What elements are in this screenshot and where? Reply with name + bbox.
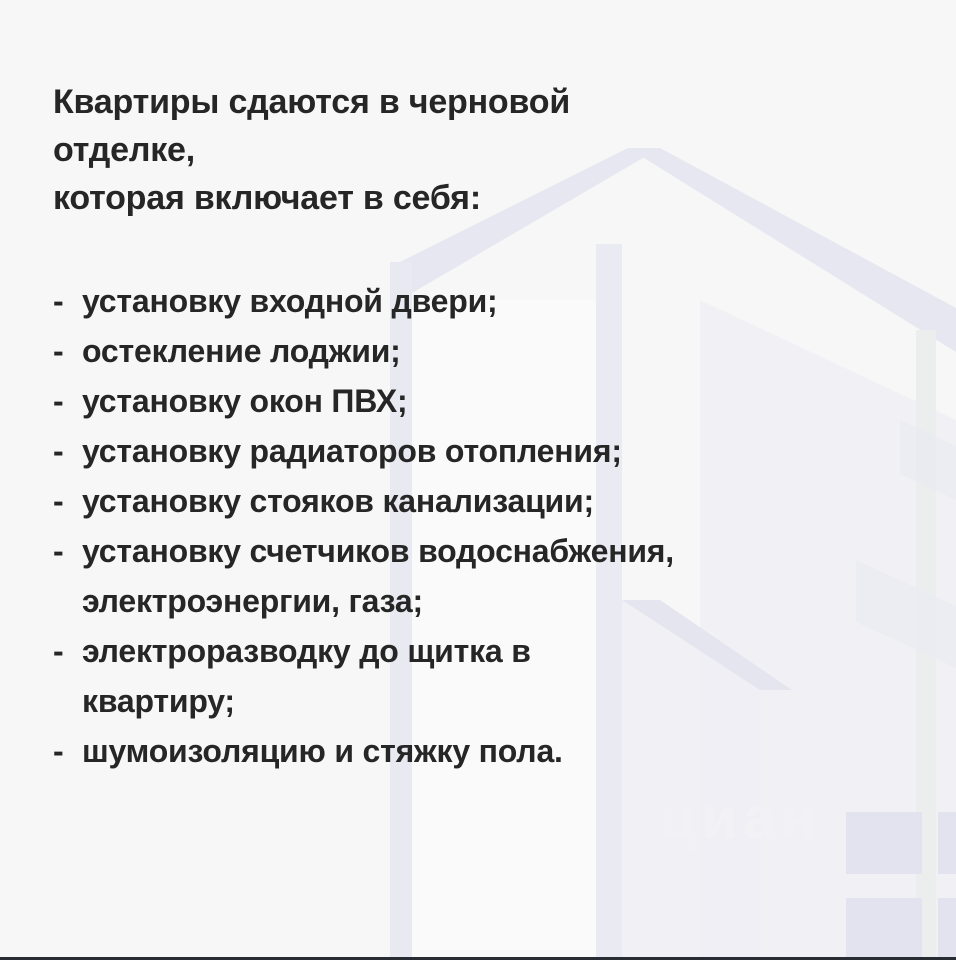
list-item-text: шумоизоляцию и стяжку пола. [82, 733, 563, 769]
window-grid [846, 812, 956, 958]
list-bullet-dash: - [53, 526, 63, 576]
finishing-list: -установку входной двери;-остекление лод… [53, 276, 953, 776]
heading-line-2: отделке, [53, 126, 953, 174]
list-bullet-dash: - [53, 726, 63, 776]
list-bullet-dash: - [53, 426, 63, 476]
list-item-text: установку входной двери; [82, 283, 498, 319]
list-item: -шумоизоляцию и стяжку пола. [53, 726, 953, 776]
list-item-text: установку окон ПВХ; [82, 383, 408, 419]
list-item: -электроразводку до щитка вквартиру; [53, 626, 953, 726]
list-item-continuation: электроэнергии, газа; [82, 576, 953, 626]
list-item: -остекление лоджии; [53, 326, 953, 376]
list-bullet-dash: - [53, 626, 63, 676]
brand-watermark-text: циан [660, 786, 823, 851]
list-item-text: остекление лоджии; [82, 333, 401, 369]
list-bullet-dash: - [53, 476, 63, 526]
list-item: -установку стояков канализации; [53, 476, 953, 526]
list-item-continuation: квартиру; [82, 676, 953, 726]
card-content: Квартиры сдаются в черновой отделке, кот… [53, 78, 953, 776]
list-bullet-dash: - [53, 376, 63, 426]
list-item: -установку радиаторов отопления; [53, 426, 953, 476]
list-item: -установку счетчиков водоснабжения,элект… [53, 526, 953, 626]
list-item: -установку окон ПВХ; [53, 376, 953, 426]
listing-info-card: циан Квартиры сдаются в черновой отделке… [0, 0, 956, 960]
list-item-text: электроразводку до щитка в [82, 633, 531, 669]
list-item-text: установку стояков канализации; [82, 483, 594, 519]
list-bullet-dash: - [53, 276, 63, 326]
heading-list-spacer [53, 222, 953, 276]
list-item-text: установку счетчиков водоснабжения, [82, 533, 674, 569]
heading-line-1: Квартиры сдаются в черновой [53, 78, 953, 126]
list-bullet-dash: - [53, 326, 63, 376]
list-item-text: установку радиаторов отопления; [82, 433, 622, 469]
list-item: -установку входной двери; [53, 276, 953, 326]
heading-line-3: которая включает в себя: [53, 174, 953, 222]
